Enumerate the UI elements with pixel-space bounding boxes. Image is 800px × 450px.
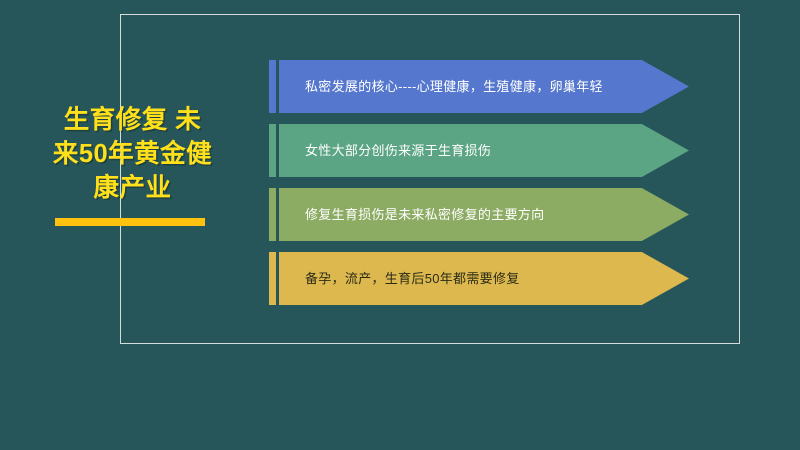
slide-canvas: 生育修复 未 来50年黄金健 康产业 私密发展的核心----心理健康，生殖健康，… [0, 0, 800, 450]
banner-item[interactable]: 女性大部分创伤来源于生育损伤 [269, 124, 689, 177]
banner-label: 女性大部分创伤来源于生育损伤 [279, 143, 491, 159]
title-underline-rule [55, 218, 205, 226]
title-block: 生育修复 未 来50年黄金健 康产业 [30, 104, 235, 206]
banner-item[interactable]: 修复生育损伤是未来私密修复的主要方向 [269, 188, 689, 241]
banner-tab-accent [269, 124, 276, 177]
banner-tab-accent [269, 60, 276, 113]
banner-item[interactable]: 私密发展的核心----心理健康，生殖健康，卵巢年轻 [269, 60, 689, 113]
banner-body[interactable]: 修复生育损伤是未来私密修复的主要方向 [279, 188, 689, 241]
banner-list: 私密发展的核心----心理健康，生殖健康，卵巢年轻 女性大部分创伤来源于生育损伤… [269, 60, 689, 316]
banner-label: 修复生育损伤是未来私密修复的主要方向 [279, 207, 544, 223]
banner-body[interactable]: 女性大部分创伤来源于生育损伤 [279, 124, 689, 177]
banner-body[interactable]: 私密发展的核心----心理健康，生殖健康，卵巢年轻 [279, 60, 689, 113]
banner-label: 私密发展的核心----心理健康，生殖健康，卵巢年轻 [279, 79, 603, 95]
banner-tab-accent [269, 252, 276, 305]
banner-item[interactable]: 备孕，流产，生育后50年都需要修复 [269, 252, 689, 305]
banner-label: 备孕，流产，生育后50年都需要修复 [279, 271, 520, 287]
banner-body[interactable]: 备孕，流产，生育后50年都需要修复 [279, 252, 689, 305]
page-title: 生育修复 未 来50年黄金健 康产业 [30, 104, 235, 206]
banner-tab-accent [269, 188, 276, 241]
